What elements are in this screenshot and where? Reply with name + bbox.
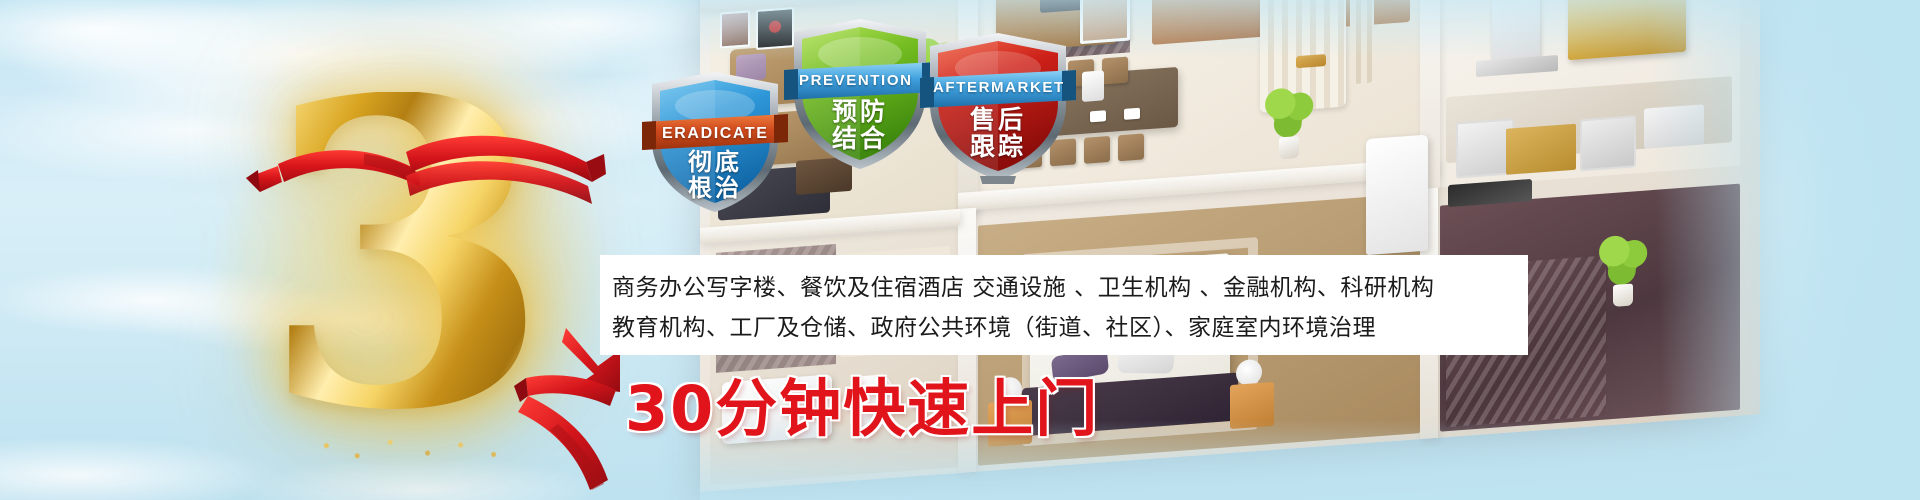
badge-aftermarket: AFTERMARKET 售后 跟踪: [918, 26, 1078, 184]
badge-prevention: PREVENTION 预防 结合: [782, 12, 938, 174]
badge-eradicate: ERADICATE 彻底 根治: [640, 66, 790, 216]
window-curtain: [1350, 0, 1374, 84]
potted-plant: [1260, 57, 1318, 161]
kitchen-base-cabinet: [1506, 124, 1576, 175]
refrigerator: [1366, 135, 1428, 256]
badge-prevention-chinese: 预防 结合: [782, 98, 938, 152]
nightstand: [1230, 382, 1274, 429]
service-scope-line-1: 商务办公写字楼、餐饮及住宿酒店 交通设施 、卫生机构 、金融机构、科研机构: [600, 268, 1528, 302]
headline-text: 30分钟快速上门: [625, 358, 1099, 448]
promo-banner: 3: [0, 0, 1920, 500]
oven: [1580, 115, 1636, 171]
kitchen-wall-cabinet: [1568, 0, 1686, 60]
badge-aftermarket-chinese: 售后 跟踪: [918, 106, 1078, 160]
gold-number-3: 3: [236, 92, 576, 452]
badge-group: ERADICATE 彻底 根治: [640, 4, 1200, 214]
badge-prevention-english: PREVENTION: [799, 72, 913, 89]
service-scope-panel: 商务办公写字楼、餐饮及住宿酒店 交通设施 、卫生机构 、金融机构、科研机构 教育…: [600, 255, 1528, 355]
badge-aftermarket-english: AFTERMARKET: [933, 79, 1065, 96]
service-scope-line-2: 教育机构、工厂及仓储、政府公共环境（街道、社区）、家庭室内环境治理: [600, 308, 1528, 342]
potted-plant: [1600, 223, 1646, 308]
plant-foliage: [1260, 81, 1318, 143]
plant-pot: [1279, 136, 1299, 159]
plant-pot: [1613, 283, 1633, 306]
kitchen-sink: [1644, 104, 1704, 148]
badge-eradicate-english: ERADICATE: [662, 125, 769, 143]
plant-foliage: [1594, 228, 1652, 290]
badge-eradicate-chinese: 彻底 根治: [640, 150, 790, 202]
